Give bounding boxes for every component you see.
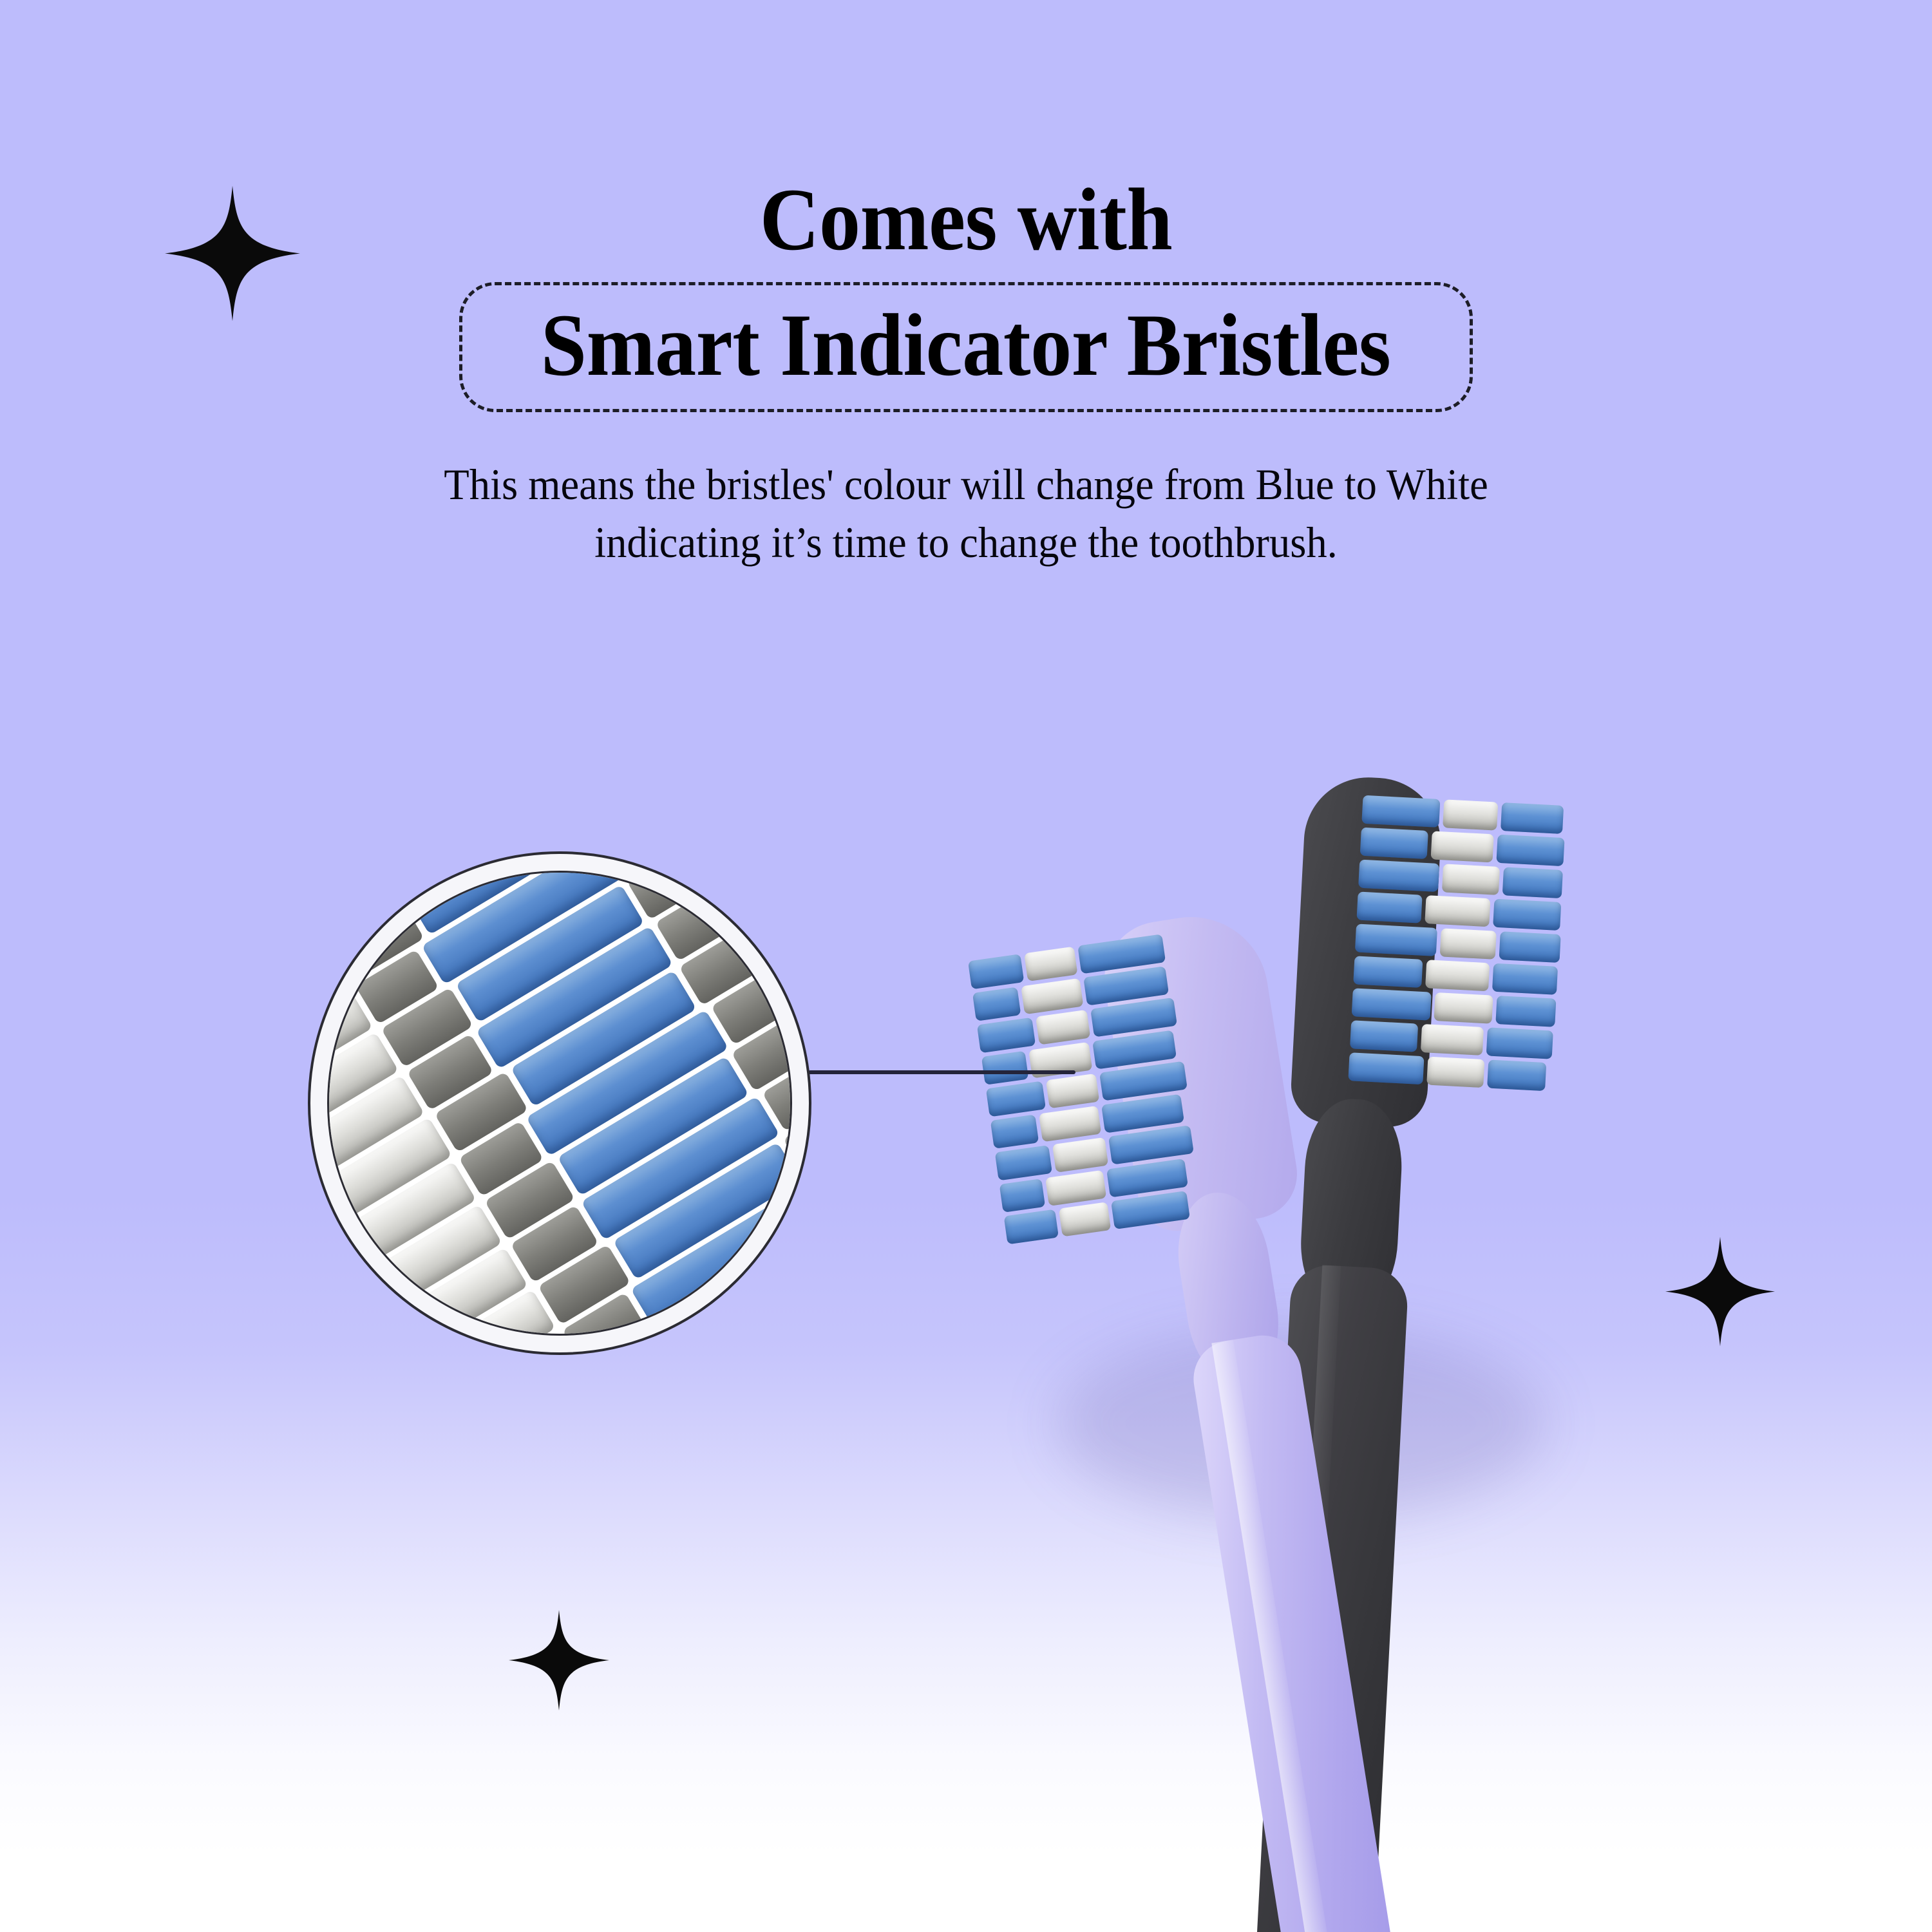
lavender-bristle-field — [967, 929, 1220, 1258]
headline-dashed-box: Smart Indicator Bristles — [459, 282, 1472, 412]
headline-line-1: Comes with — [68, 175, 1864, 264]
callout-connector-line — [808, 1070, 1075, 1074]
magnifier-lens-content — [327, 871, 792, 1336]
product-feature-banner: Comes with Smart Indicator Bristles This… — [0, 0, 1932, 1932]
sparkle-right-icon — [1665, 1235, 1775, 1348]
charcoal-bristle-field — [1347, 791, 1575, 1105]
headline-line-2: Smart Indicator Bristles — [541, 301, 1391, 390]
headline-block: Comes with Smart Indicator Bristles — [0, 175, 1932, 412]
body-copy-line-1: This means the bristles' colour will cha… — [232, 456, 1700, 514]
bristle-closeup-magnifier — [308, 851, 811, 1355]
body-copy-line-2: indicating it’s time to change the tooth… — [232, 514, 1700, 572]
body-copy: This means the bristles' colour will cha… — [232, 456, 1700, 572]
sparkle-bottom-left-icon — [509, 1609, 609, 1712]
magnifier-lens — [327, 871, 792, 1336]
